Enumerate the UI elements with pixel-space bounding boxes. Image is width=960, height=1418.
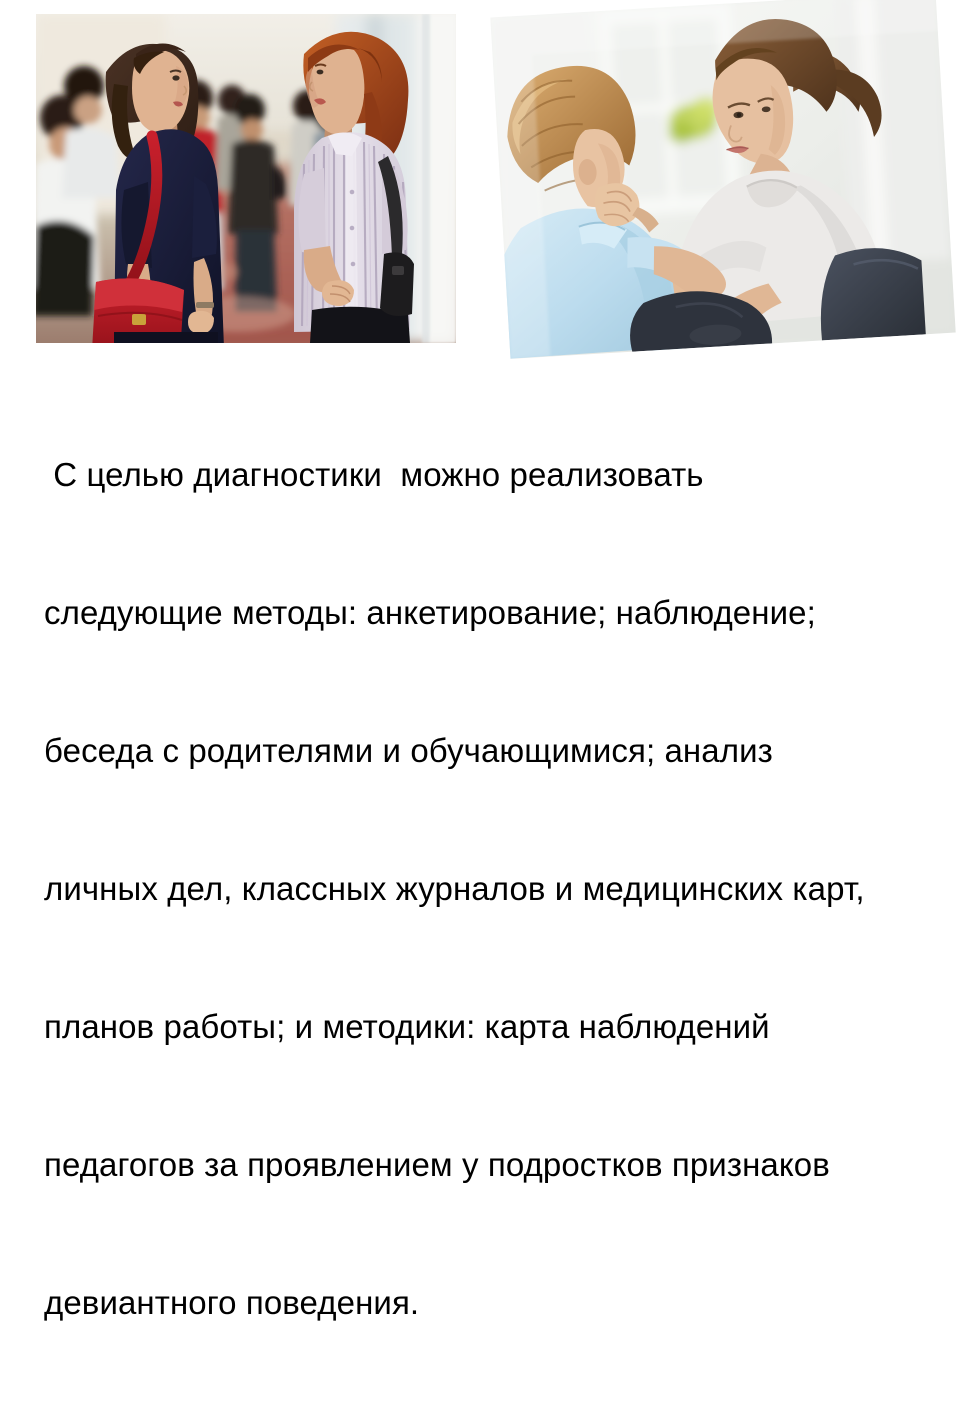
paragraph-line: С целью диагностики можно реализовать xyxy=(44,452,924,498)
left-photo-inner xyxy=(36,14,456,343)
right-photo-inner xyxy=(490,0,955,359)
image-two-women-talking-in-school-hallway xyxy=(36,14,456,343)
paragraph-line: беседа с родителями и обучающимися; анал… xyxy=(44,728,924,774)
paragraph-line: педагогов за проявлением у подростков пр… xyxy=(44,1142,924,1188)
paragraph-line: девиантного поведения. xyxy=(44,1280,924,1326)
paragraph-line: следующие методы: анкетирование; наблюде… xyxy=(44,590,924,636)
left-photo-illustration xyxy=(36,14,456,343)
image-woman-talking-with-boy xyxy=(490,0,955,359)
paragraph-line: планов работы; и методики: карта наблюде… xyxy=(44,1004,924,1050)
slide-body-paragraph: С целью диагностики можно реализовать сл… xyxy=(44,360,924,1418)
slide-canvas: С целью диагностики можно реализовать сл… xyxy=(0,0,960,720)
paragraph-line: личных дел, классных журналов и медицинс… xyxy=(44,866,924,912)
right-photo-illustration xyxy=(490,0,955,359)
